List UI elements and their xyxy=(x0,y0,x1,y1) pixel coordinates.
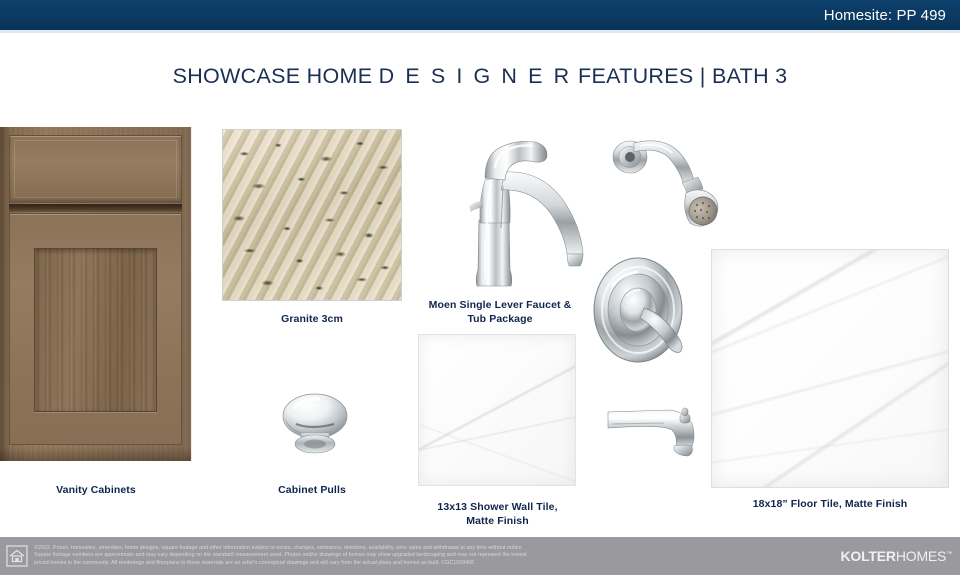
granite-caption: Granite 3cm xyxy=(222,312,402,326)
faucet-tub-caption-line1: Moen Single Lever Faucet & xyxy=(405,298,595,312)
shower-wall-tile-caption: 13x13 Shower Wall Tile, Matte Finish xyxy=(405,500,590,528)
shower-wall-tile-image xyxy=(418,334,576,486)
header-underline xyxy=(0,30,960,33)
footer-legal-text: ©2022. Prices, homesites, amenities, hom… xyxy=(34,545,833,567)
shower-valve-trim-image xyxy=(588,252,696,370)
cabinet-bottom-shadow xyxy=(0,447,191,461)
tub-spout-image xyxy=(604,398,708,462)
showerhead-image xyxy=(602,131,720,239)
page-title: SHOWCASE HOME D E S I G N E R FEATURES |… xyxy=(0,64,960,89)
faucet-tub-caption: Moen Single Lever Faucet & Tub Package xyxy=(405,298,595,326)
shower-wall-tile-caption-line1: 13x13 Shower Wall Tile, xyxy=(405,500,590,514)
footer-legal-line-2: Square footage numbers are approximate a… xyxy=(34,552,833,559)
cabinet-door-center-panel xyxy=(34,248,157,412)
cabinet-drawer-front xyxy=(9,135,182,203)
floor-tile-caption: 18x18” Floor Tile, Matte Finish xyxy=(700,497,960,511)
vanity-cabinets-caption: Vanity Cabinets xyxy=(0,483,192,497)
cabinet-drawer-inner-bevel xyxy=(14,140,177,198)
header-bar: Homesite: PP 499 xyxy=(0,0,960,30)
cabinet-left-shadow xyxy=(0,127,10,461)
floor-tile-image xyxy=(711,249,949,488)
logo-kolter-text: KOLTER xyxy=(841,548,896,564)
kolter-homes-logo: KOLTERHOMES™ xyxy=(841,548,952,564)
equal-housing-opportunity-icon xyxy=(6,545,28,567)
footer-legal-line-1: ©2022. Prices, homesites, amenities, hom… xyxy=(34,545,833,552)
footer-bar: ©2022. Prices, homesites, amenities, hom… xyxy=(0,537,960,575)
footer-legal-line-3: priced homes in the community. All rende… xyxy=(34,560,833,567)
vanity-cabinet-image xyxy=(0,127,192,461)
page-title-part3: FEATURES | BATH 3 xyxy=(572,64,788,88)
page-title-part2: D E S I G N E R xyxy=(379,64,572,88)
cabinet-door-front xyxy=(9,213,182,445)
cabinet-reveal-gap xyxy=(9,204,182,212)
shower-wall-tile-caption-line2: Matte Finish xyxy=(405,514,590,528)
logo-homes-text: HOMES xyxy=(896,548,946,564)
cabinet-pull-image xyxy=(272,388,358,464)
slide-page: Homesite: PP 499 SHOWCASE HOME D E S I G… xyxy=(0,0,960,575)
granite-swatch-image xyxy=(222,129,402,301)
logo-trademark: ™ xyxy=(946,551,952,557)
page-title-part1: SHOWCASE HOME xyxy=(173,64,379,88)
cabinet-pulls-caption: Cabinet Pulls xyxy=(232,483,392,497)
faucet-tub-caption-line2: Tub Package xyxy=(405,312,595,326)
faucet-image xyxy=(455,128,600,293)
homesite-label: Homesite: PP 499 xyxy=(824,7,960,24)
